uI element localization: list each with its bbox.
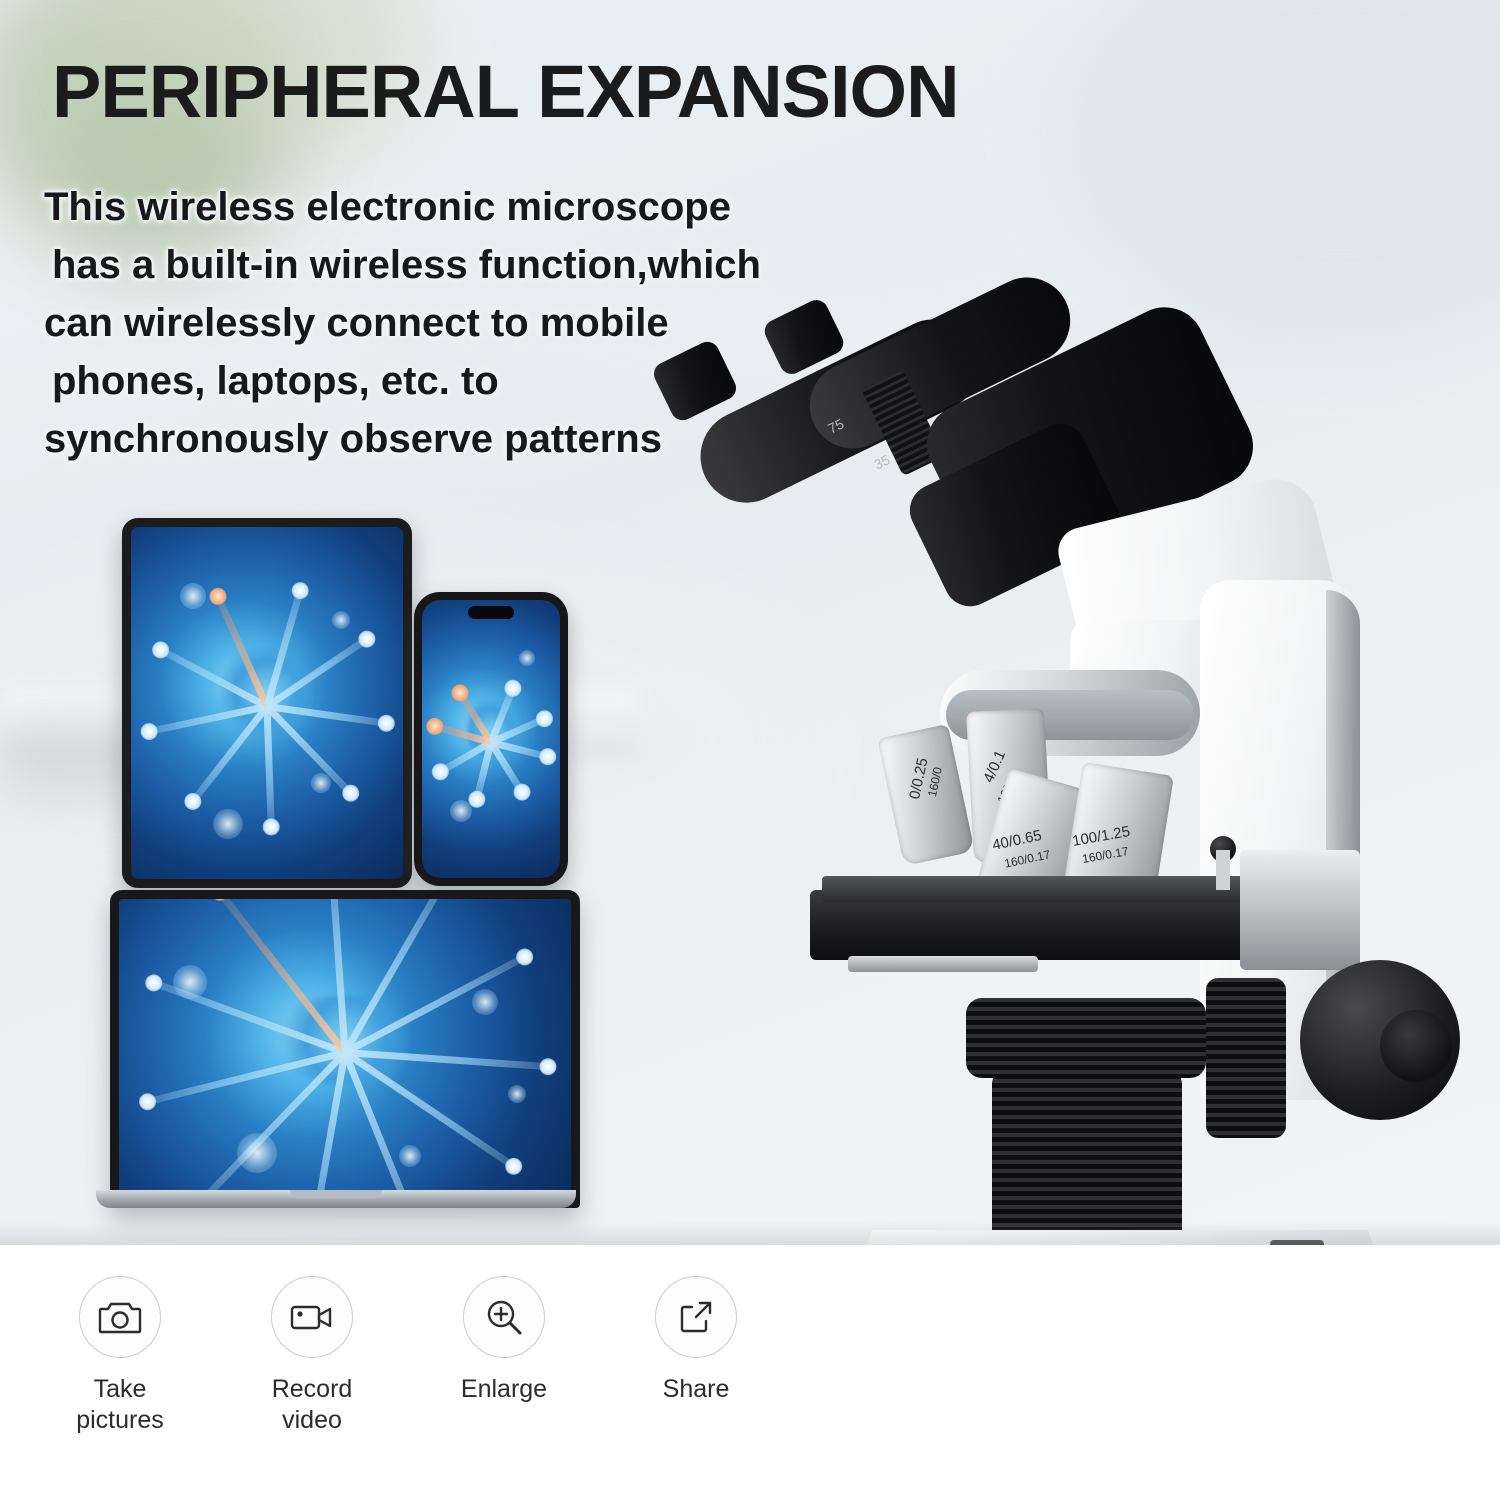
laptop-base-notch — [290, 1190, 382, 1198]
share-icon[interactable] — [655, 1276, 737, 1358]
camera-icon[interactable] — [79, 1276, 161, 1358]
feature-label: Record video — [262, 1374, 362, 1436]
zoom-in-icon[interactable] — [463, 1276, 545, 1358]
description-line-3: can wirelessly connect to mobile — [44, 294, 1044, 352]
feature-label: Take pictures — [70, 1374, 170, 1436]
feature-list: Take pictures Record video — [70, 1276, 746, 1436]
fine-focus-knob — [1380, 1010, 1452, 1082]
feature-take-pictures[interactable]: Take pictures — [70, 1276, 170, 1436]
smartphone-mockup — [414, 592, 568, 886]
stage-slide-clip — [848, 956, 1038, 972]
stage-clip-post — [1216, 850, 1230, 890]
description-line-5: synchronously observe patterns — [44, 410, 1044, 468]
condenser-adjust-knob — [1206, 978, 1286, 1138]
laptop-mockup — [96, 890, 576, 1222]
condenser-ring — [966, 998, 1206, 1078]
promo-image-root: 75 40 35 0/0.25 160/0 4/0.1 160/0 40/0.6… — [0, 0, 1500, 1500]
laptop-screen — [110, 890, 580, 1208]
tablet-mockup — [122, 518, 412, 888]
feature-label: Enlarge — [454, 1374, 554, 1405]
description-line-4: phones, laptops, etc. to — [44, 352, 1044, 410]
page-title: PERIPHERAL EXPANSION — [52, 52, 959, 132]
phone-notch — [468, 606, 514, 619]
description-line-2: has a built-in wireless function,which — [44, 236, 1044, 294]
phone-screen — [422, 600, 560, 878]
mechanical-stage-block-right — [1240, 850, 1360, 970]
feature-enlarge[interactable]: Enlarge — [454, 1276, 554, 1436]
video-camera-icon[interactable] — [271, 1276, 353, 1358]
feature-share[interactable]: Share — [646, 1276, 746, 1436]
description-text: This wireless electronic microscope has … — [44, 178, 1044, 468]
description-line-1: This wireless electronic microscope — [44, 178, 1044, 236]
feature-label: Share — [646, 1374, 746, 1405]
feature-record-video[interactable]: Record video — [262, 1276, 362, 1436]
tablet-screen — [131, 527, 403, 879]
